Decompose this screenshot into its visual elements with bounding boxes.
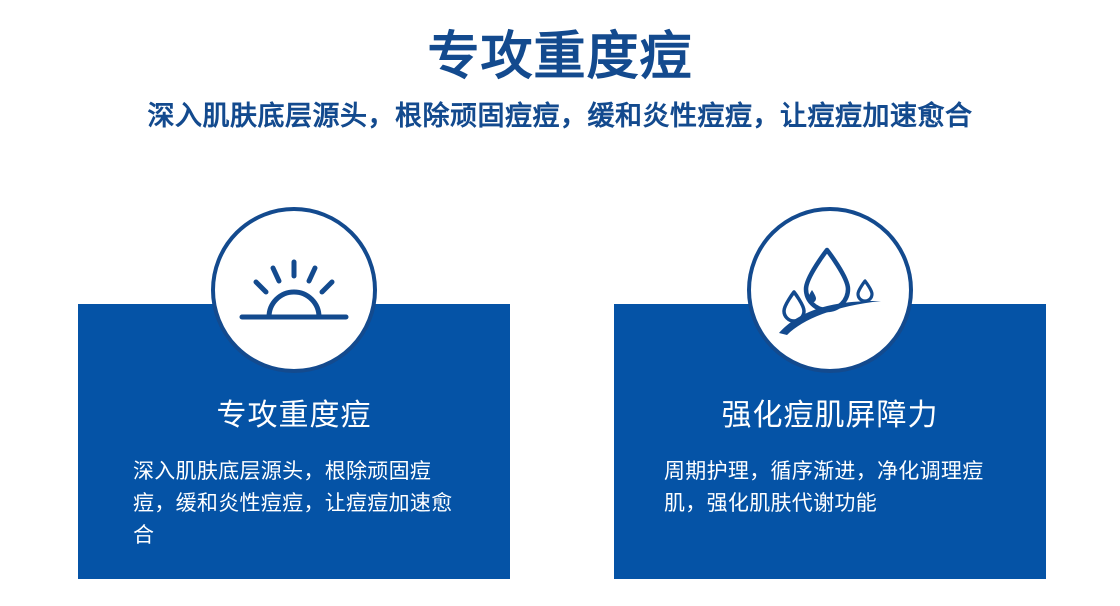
page-subtitle: 深入肌肤底层源头，根除顽固痘痘，缓和炎性痘痘，让痘痘加速愈合 [0,87,1120,133]
header: 专攻重度痘 深入肌肤底层源头，根除顽固痘痘，缓和炎性痘痘，让痘痘加速愈合 [0,0,1120,133]
feature-card-left-body: 深入肌肤底层源头，根除顽固痘痘，缓和炎性痘痘，让痘痘加速愈合 [133,456,463,552]
feature-card-left-title: 专攻重度痘 [78,396,510,436]
feature-icon-badge-left [211,207,377,373]
feature-card-right-title: 强化痘肌屏障力 [614,396,1046,436]
sunrise-icon [239,250,349,330]
water-droplets-icon [775,243,885,338]
feature-card-right-body: 周期护理，循序渐进，净化调理痘肌，强化肌肤代谢功能 [664,456,1004,520]
promo-banner: 专攻重度痘 深入肌肤底层源头，根除顽固痘痘，缓和炎性痘痘，让痘痘加速愈合 专攻重… [0,0,1120,606]
feature-icon-badge-right [747,207,913,373]
page-title: 专攻重度痘 [0,0,1120,87]
